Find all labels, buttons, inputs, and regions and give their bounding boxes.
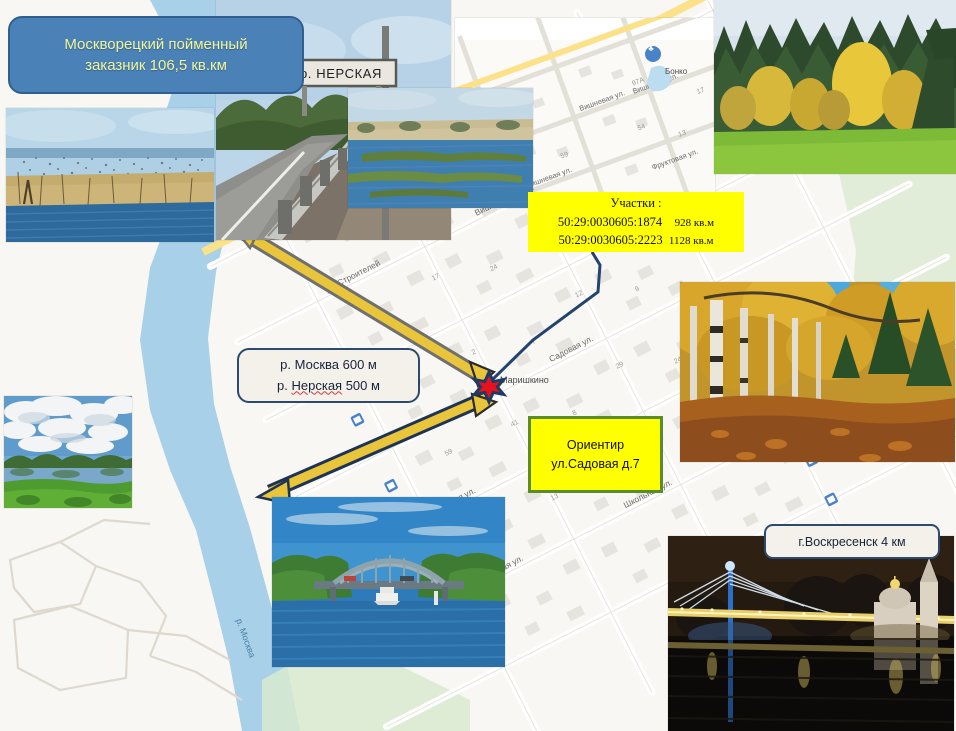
photo-flood-birds-image — [6, 108, 214, 242]
parcel-row-2: 50:29:0030605:2223 1128 кв.м — [558, 231, 713, 250]
photo-birch-autumn-image — [680, 282, 955, 462]
map-collage-canvas: 302743 413823 231724 19106 327 12931 594… — [0, 0, 956, 731]
callout-rivers-line1: р. Москва 600 м — [280, 355, 377, 376]
river-nerskaya-text: Нерская — [292, 378, 343, 393]
callout-orientir[interactable]: Ориентир ул.Садовая д.7 — [528, 416, 663, 493]
photo-bridge-river-image — [272, 497, 505, 667]
callout-voskresensk-text: г.Воскресенск 4 км — [798, 532, 905, 552]
photo-bridge-river[interactable] — [272, 497, 505, 667]
callout-orientir-line1: Ориентир — [567, 436, 624, 455]
callout-parcels[interactable]: Участки : 50:29:0030605:1874 928 кв.м 50… — [528, 192, 744, 252]
svg-text:♣: ♣ — [648, 44, 654, 53]
parcel-row-1: 50:29:0030605:1874 928 кв.м — [558, 213, 714, 232]
photo-floodplain-wide[interactable] — [348, 88, 533, 208]
photo-floodplain-wide-image — [348, 88, 533, 208]
village-marishkino-label: Маришкино — [500, 375, 549, 385]
poi-label-bonko: Бонко — [665, 67, 688, 76]
callout-parcels-heading: Участки : — [610, 194, 661, 213]
callout-reserve-line2: заказник 106,5 кв.км — [85, 55, 227, 76]
callout-rivers[interactable]: р. Москва 600 м р. Нерская 500 м — [237, 348, 420, 403]
photo-voskresensk-night[interactable] — [668, 536, 954, 731]
photo-meadow-clouds-image — [4, 396, 132, 508]
photo-forest-edge[interactable] — [714, 0, 956, 174]
photo-voskresensk-night-image — [668, 536, 954, 731]
callout-voskresensk[interactable]: г.Воскресенск 4 км — [764, 524, 940, 559]
svg-text:р. НЕРСКАЯ: р. НЕРСКАЯ — [300, 66, 382, 81]
photo-forest-edge-image — [714, 0, 956, 174]
callout-reserve-line1: Москворецкий пойменный — [64, 34, 247, 55]
callout-rivers-line2: р. Нерская 500 м — [277, 376, 380, 397]
photo-flood-birds[interactable] — [6, 108, 214, 242]
photo-meadow-clouds[interactable] — [4, 396, 132, 508]
callout-reserve[interactable]: Москворецкий пойменный заказник 106,5 кв… — [8, 16, 304, 94]
callout-orientir-line2: ул.Садовая д.7 — [551, 455, 640, 474]
photo-birch-autumn[interactable] — [680, 282, 955, 462]
